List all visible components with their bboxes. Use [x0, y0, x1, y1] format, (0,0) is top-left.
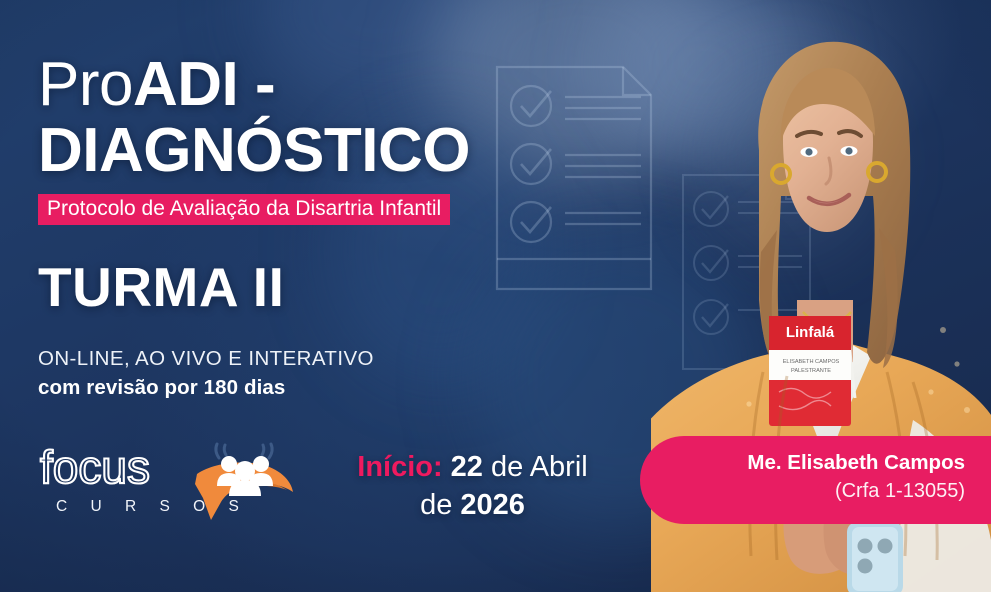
group-label: TURMA II — [38, 258, 658, 316]
presenter-badge: Me. Elisabeth Campos (Crfa 1-13055) — [640, 436, 991, 524]
page-title: ProADI - DIAGNÓSTICO — [38, 52, 658, 184]
svg-text:PALESTRANTE: PALESTRANTE — [791, 368, 831, 374]
course-promo-banner: Linfalá ELISABETH CAMPOS PALESTRANTE — [0, 0, 991, 592]
title-line1-thin: Pro — [38, 50, 133, 119]
start-date-connector-2: de — [420, 489, 460, 521]
focus-wordmark: focus — [38, 443, 198, 495]
format-revision-text: com revisão por 180 dias — [38, 375, 658, 401]
svg-text:focus: focus — [40, 443, 150, 493]
start-date-connector: de — [483, 451, 530, 483]
subtitle-banner: Protocolo de Avaliação da Disartria Infa… — [38, 194, 450, 225]
start-date-block: Início:22 de Abril de 2026 — [330, 448, 615, 524]
smartphone — [847, 522, 903, 592]
title-line1-bold: ADI - — [133, 50, 275, 119]
presenter-name: Me. Elisabeth Campos — [640, 449, 965, 477]
title-line2: DIAGNÓSTICO — [38, 116, 470, 185]
start-date-month: Abril — [530, 451, 588, 483]
start-date-label: Início: — [357, 451, 442, 483]
brand-logo[interactable]: focus C U R S O S — [38, 443, 298, 525]
start-date-day: 22 — [451, 451, 483, 483]
svg-text:Linfalá: Linfalá — [786, 324, 835, 341]
format-mode-text: ON-LINE, AO VIVO E INTERATIVO — [38, 346, 658, 372]
svg-text:ELISABETH CAMPOS: ELISABETH CAMPOS — [783, 359, 840, 365]
presenter-registration: (Crfa 1-13055) — [640, 477, 965, 505]
start-date-year: 2026 — [460, 489, 525, 521]
headline-block: ProADI - DIAGNÓSTICO Protocolo de Avalia… — [38, 52, 658, 401]
people-broadcast-icon — [193, 440, 297, 524]
